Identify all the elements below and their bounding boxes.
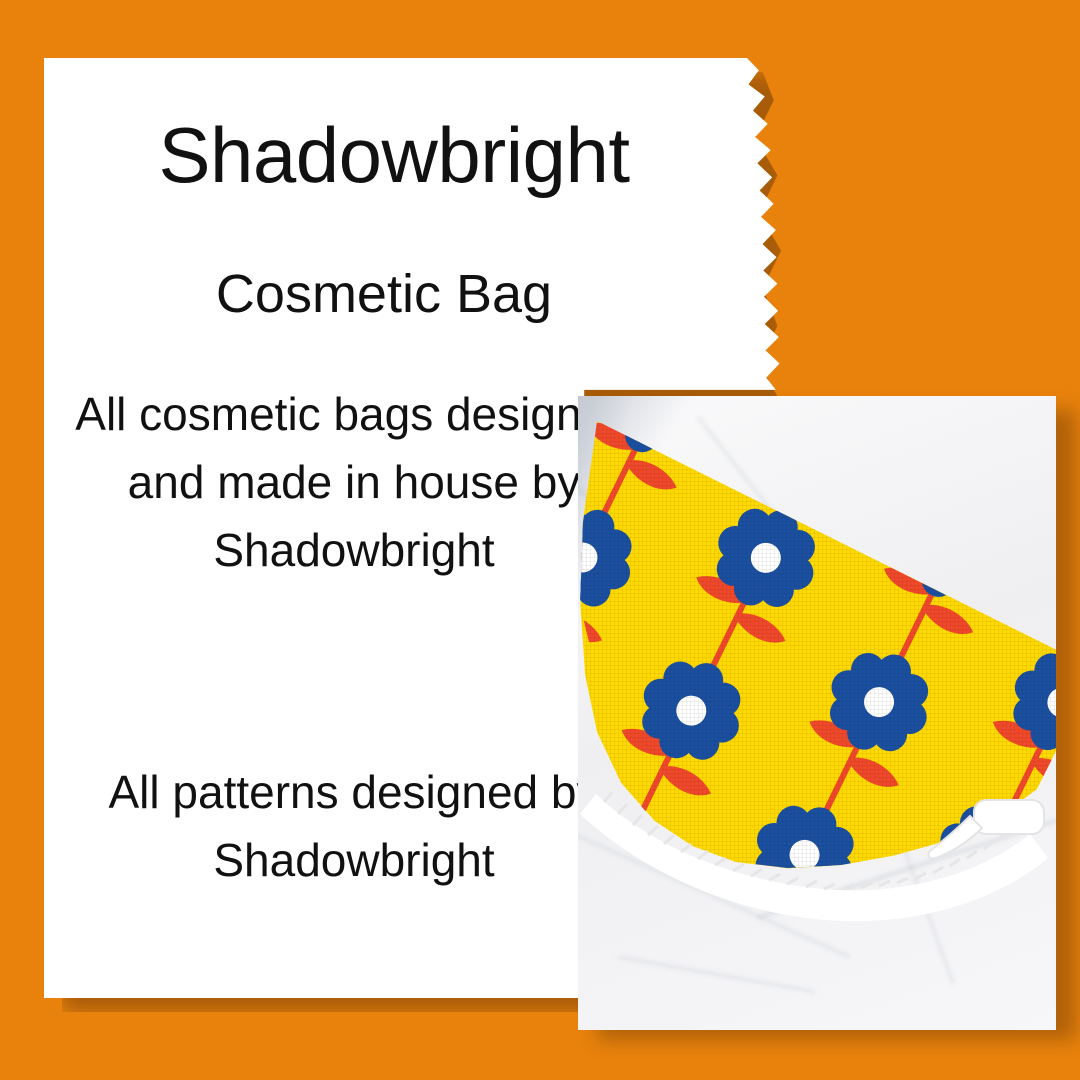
blurb-patterns-designed: All patterns designed by Shadowbright	[54, 758, 654, 894]
poster-canvas: Shadowbright Cosmetic Bag All cosmetic b…	[0, 0, 1080, 1080]
blurb-made-in-house: All cosmetic bags designed and made in h…	[54, 380, 654, 584]
brand-title: Shadowbright	[44, 110, 744, 201]
product-photo	[578, 396, 1056, 1030]
product-title: Cosmetic Bag	[44, 263, 724, 325]
zipper	[578, 396, 1056, 1030]
